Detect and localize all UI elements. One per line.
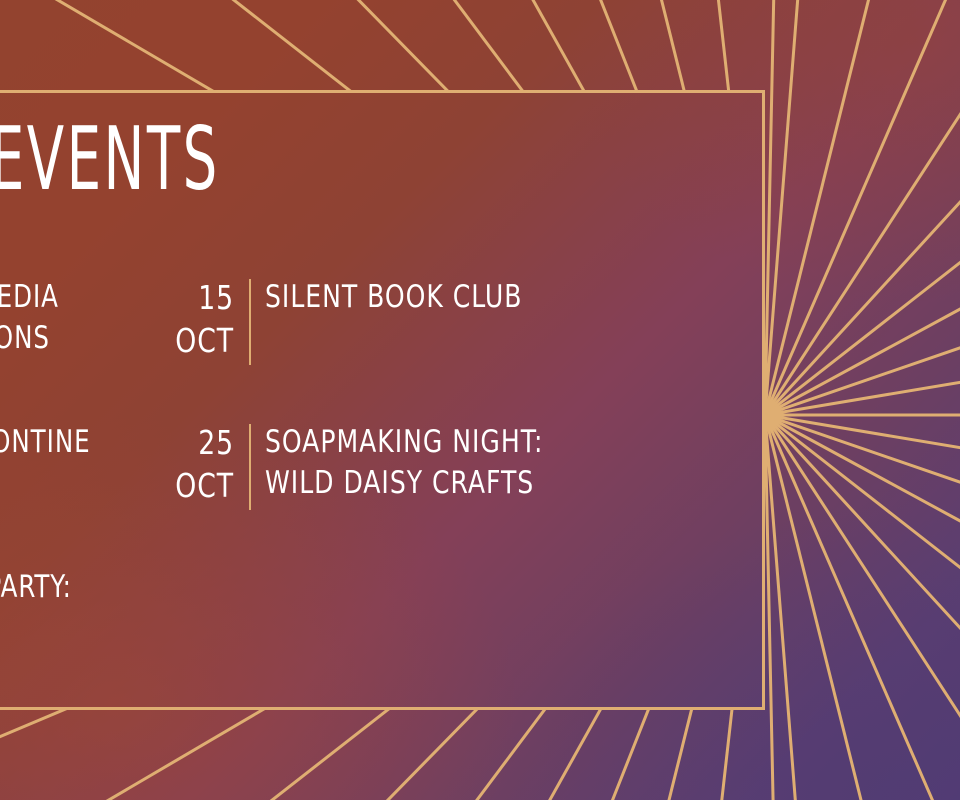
event-divider — [234, 565, 265, 710]
events-list: MAGIC MEDIA Y & POTIONS 15 OCT SILENT BO… — [0, 275, 762, 710]
event-poster: NG EVENTS MAGIC MEDIA Y & POTIONS 15 OCT… — [0, 0, 960, 800]
event-left-line1: R FOR MONTINE — [0, 422, 98, 463]
event-left-line1: MAGIC MEDIA — [0, 277, 98, 318]
event-date: 25 OCT — [139, 420, 234, 508]
event-right-title: SOAPMAKING NIGHT: WILD DAISY CRAFTS — [265, 420, 712, 504]
event-right-title — [265, 565, 712, 567]
event-row[interactable]: OWEEN PARTY: CRAWL — [0, 565, 762, 710]
event-right-line2: WILD DAISY CRAFTS — [265, 463, 712, 504]
event-left-title: OWEEN PARTY: CRAWL — [0, 565, 98, 649]
event-date-day: 25 — [139, 422, 234, 465]
event-right-line1: SOAPMAKING NIGHT: — [265, 422, 712, 463]
event-divider — [234, 420, 265, 565]
event-left-title: R FOR MONTINE — [0, 420, 98, 463]
event-left-line2: CRAWL — [0, 608, 98, 649]
event-date-day: 15 — [139, 277, 234, 320]
event-left-title: MAGIC MEDIA Y & POTIONS — [0, 275, 98, 359]
event-left-line2: Y & POTIONS — [0, 318, 98, 359]
event-date — [139, 565, 234, 567]
event-date: 15 OCT — [139, 275, 234, 363]
event-right-title: SILENT BOOK CLUB — [265, 275, 712, 318]
page-title: NG EVENTS — [0, 118, 220, 201]
event-left-line1: OWEEN PARTY: — [0, 567, 98, 608]
poster-content: NG EVENTS MAGIC MEDIA Y & POTIONS 15 OCT… — [0, 90, 762, 710]
event-date-month: OCT — [139, 465, 234, 508]
event-divider — [234, 275, 265, 420]
event-row[interactable]: R FOR MONTINE 25 OCT SOAPMAKING NIGHT: W… — [0, 420, 762, 565]
event-date-month: OCT — [139, 320, 234, 363]
event-row[interactable]: MAGIC MEDIA Y & POTIONS 15 OCT SILENT BO… — [0, 275, 762, 420]
event-right-line1: SILENT BOOK CLUB — [265, 277, 712, 318]
